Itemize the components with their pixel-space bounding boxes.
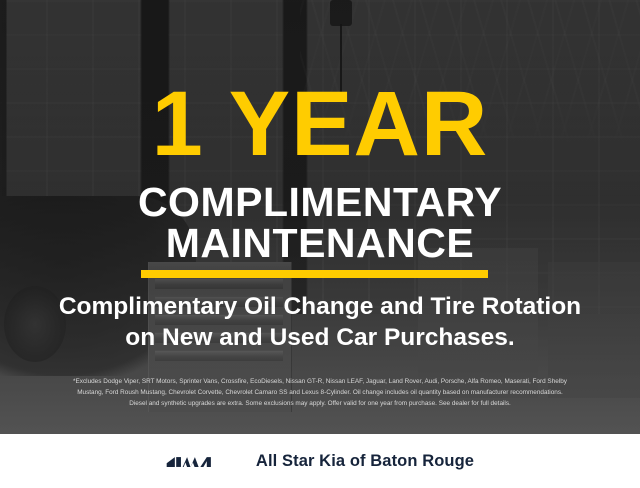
banner-content: 1 YEAR COMPLIMENTARY MAINTENANCE Complim…	[0, 0, 640, 434]
disclaimer-line-1: *Excludes Dodge Viper, SRT Motors, Sprin…	[14, 376, 626, 387]
subheadline-line-2: on New and Used Car Purchases.	[125, 324, 514, 351]
disclaimer-text: *Excludes Dodge Viper, SRT Motors, Sprin…	[14, 376, 626, 409]
subheadline: Complimentary Oil Change and Tire Rotati…	[0, 291, 640, 354]
subheadline-line-1: Complimentary Oil Change and Tire Rotati…	[59, 293, 581, 320]
promo-banner: 1 YEAR COMPLIMENTARY MAINTENANCE Complim…	[0, 0, 640, 488]
headline-year: 1 YEAR	[0, 78, 640, 170]
disclaimer-line-3: Diesel and synthetic upgrades are extra.…	[14, 398, 626, 409]
disclaimer-line-2: Mustang, Ford Roush Mustang, Chevrolet C…	[14, 387, 626, 398]
dealer-name: All Star Kia of Baton Rouge	[256, 452, 474, 471]
headline-complimentary: COMPLIMENTARY	[0, 182, 640, 223]
headline-maintenance: MAINTENANCE	[0, 223, 640, 264]
dealer-footer-bar: All Star Kia of Baton Rouge	[0, 434, 640, 488]
kia-logo-icon	[166, 453, 234, 470]
yellow-divider-bar	[141, 270, 488, 278]
